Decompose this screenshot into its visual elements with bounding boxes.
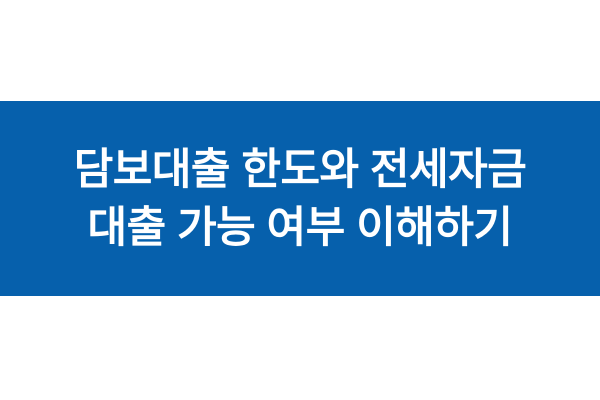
banner-top-margin <box>0 0 600 101</box>
banner-bottom-margin <box>0 296 600 400</box>
headline-line-1: 담보대출 한도와 전세자금 <box>74 141 527 199</box>
banner-blue-band: 담보대출 한도와 전세자금 대출 가능 여부 이해하기 <box>0 101 600 296</box>
banner-canvas: 담보대출 한도와 전세자금 대출 가능 여부 이해하기 <box>0 0 600 400</box>
headline-line-2: 대출 가능 여부 이해하기 <box>74 199 527 257</box>
banner-headline: 담보대출 한도와 전세자금 대출 가능 여부 이해하기 <box>74 141 527 257</box>
